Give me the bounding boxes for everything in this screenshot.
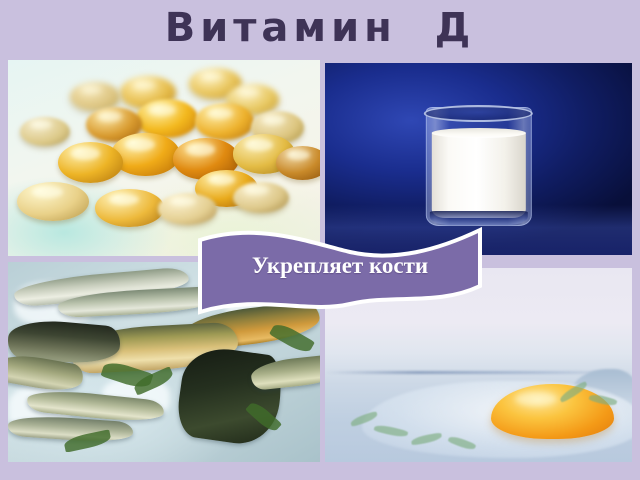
banner-ribbon: Укрепляет кости — [198, 226, 482, 310]
milk-liquid — [432, 132, 526, 219]
yolk-highlight — [515, 392, 557, 406]
milk-glass — [425, 107, 531, 226]
slide-canvas: Витамин Д — [0, 0, 640, 480]
glass-rim — [424, 105, 533, 122]
capsule — [95, 189, 164, 226]
capsule — [17, 182, 89, 221]
banner-label: Укрепляет кости — [198, 253, 482, 279]
capsule — [158, 193, 217, 224]
milk-surface — [432, 128, 526, 138]
capsule — [233, 182, 289, 213]
glass-base — [429, 211, 527, 225]
capsule — [276, 146, 320, 179]
page-title: Витамин Д — [0, 2, 640, 54]
